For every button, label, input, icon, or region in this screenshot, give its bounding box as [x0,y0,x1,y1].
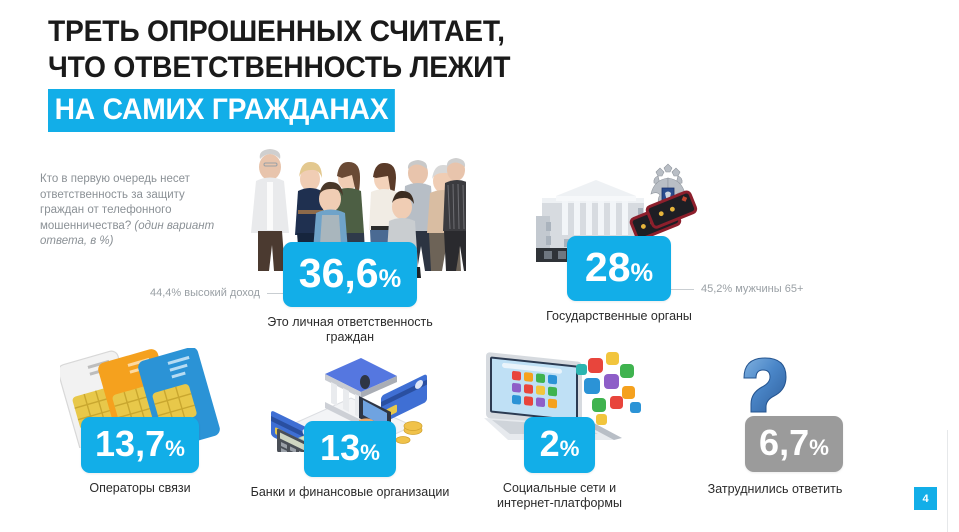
stat-badge-value: 2% [524,417,596,473]
stat-unit: % [379,265,402,293]
stat-value: 6,7 [759,422,809,463]
stat-value: 28 [585,244,631,290]
stat-unit: % [165,436,185,461]
survey-question: Кто в первую очередь несет ответственнос… [40,172,215,250]
stat-badge-value: 28% [567,236,671,301]
stat-badge-value: 6,7% [745,416,843,472]
title-line-1: ТРЕТЬ ОПРОШЕННЫХ СЧИТАЕТ, [48,14,706,50]
stat-card-government[interactable]: 28% Государственные органы [508,160,730,324]
stat-unit: % [360,440,380,465]
stat-badge-value: 36,6% [283,242,417,307]
stat-card-social-networks[interactable]: 2% Социальные сети и интернет-платформы [462,348,657,511]
page-title: ТРЕТЬ ОПРОШЕННЫХ СЧИТАЕТ, ЧТО ОТВЕТСТВЕН… [48,14,748,132]
stat-card-banks[interactable]: 13% Банки и финансовые организации [250,352,450,500]
stat-unit: % [560,436,580,461]
title-line-2: ЧТО ОТВЕТСТВЕННОСТЬ ЛЕЖИТ [48,50,706,86]
stat-badge-value: 13% [304,421,396,477]
stat-card-personal-responsibility[interactable]: 36,6% Это личная ответственность граждан [227,143,473,345]
title-line-3-highlighted: НА САМИХ ГРАЖДАНАХ [48,89,395,132]
stat-caption: Операторы связи [52,481,228,496]
stat-value: 36,6 [299,250,379,296]
stat-caption: Затруднились ответить [680,482,870,497]
stat-caption: Государственные органы [508,309,730,324]
stat-value: 13,7 [95,423,165,464]
page-number-badge: 4 [914,487,937,510]
stat-unit: % [631,259,654,287]
right-edge-divider [947,430,948,532]
stat-unit: % [809,435,829,460]
stat-badge-value: 13,7% [81,417,199,473]
stat-card-undecided[interactable]: 6,7% Затруднились ответить [680,352,870,497]
stat-caption: Банки и финансовые организации [250,485,450,500]
stat-caption: Это личная ответственность граждан [227,315,473,345]
stat-value: 2 [540,423,560,464]
stat-caption: Социальные сети и интернет-платформы [462,481,657,511]
stat-card-mobile-operators[interactable]: 13,7% Операторы связи [52,348,228,496]
slide-canvas: ТРЕТЬ ОПРОШЕННЫХ СЧИТАЕТ, ЧТО ОТВЕТСТВЕН… [0,0,959,532]
stat-value: 13 [320,427,360,468]
